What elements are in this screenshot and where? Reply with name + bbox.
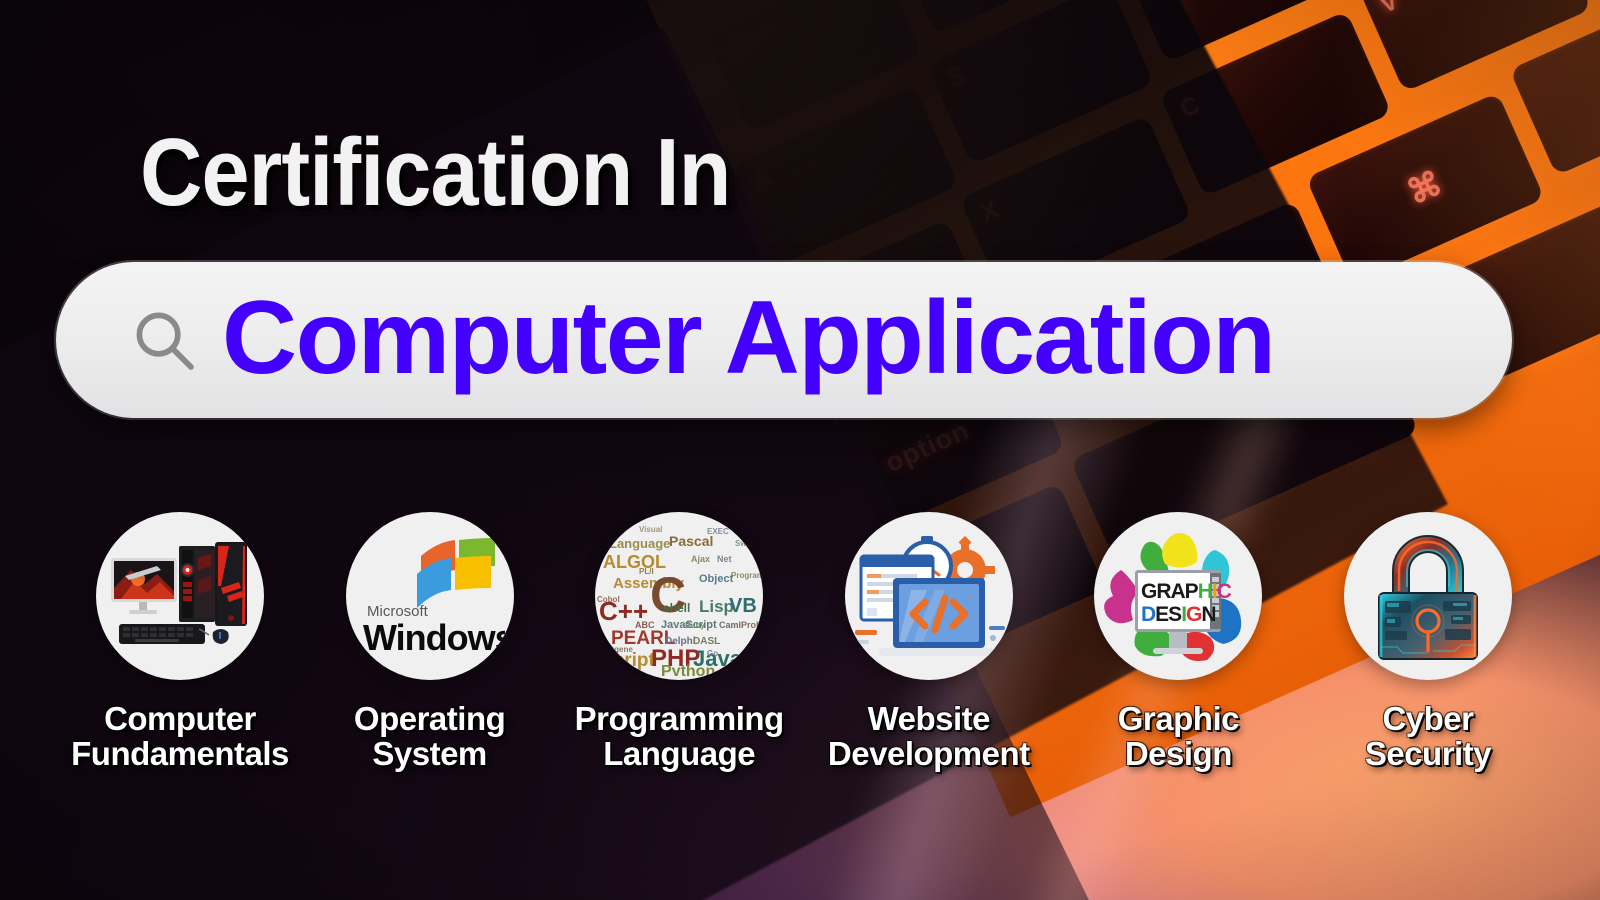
svg-text:Object: Object [699,573,734,585]
topic-cyber-security[interactable]: Cyber Security [1312,512,1544,772]
web-development-icon [845,512,1013,680]
svg-text:Caml: Caml [719,620,741,630]
svg-text:Cobol: Cobol [597,595,620,604]
topic-label: Graphic Design [1118,702,1239,772]
svg-text:shell: shell [663,601,690,615]
microsoft-windows-logo-icon: Microsoft Windows [346,512,514,680]
topic-programming-language[interactable]: Language Pascal ALGOL Assembly C++ C PEA… [563,512,795,772]
svg-text:Visual: Visual [639,525,662,534]
search-icon [128,304,200,376]
svg-text:Prolog: Prolog [741,620,763,630]
code-wordcloud-icon: Language Pascal ALGOL Assembly C++ C PEA… [595,512,763,680]
graphic-design-icon: GRAPHIC DESIGN [1094,512,1262,680]
page-title: Certification In [140,118,730,228]
svg-text:VB: VB [729,595,757,617]
svg-text:Windows: Windows [363,617,505,658]
svg-text:PL/I: PL/I [639,567,654,576]
topic-website-development[interactable]: Website Development [813,512,1045,772]
svg-text:Oxygene: Oxygene [599,645,633,654]
topic-list: Computer Fundamentals Microsoft Windows [64,512,1544,772]
svg-text:Ajax: Ajax [691,554,710,564]
svg-text:Python: Python [661,663,715,676]
svg-text:Net: Net [717,554,732,564]
padlock-security-icon [1344,512,1512,680]
topic-label: Programming Language [575,702,784,772]
svg-text:Ruby: Ruby [685,621,706,630]
topic-operating-system[interactable]: Microsoft Windows Operating System [314,512,546,772]
topic-label: Website Development [828,702,1030,772]
topic-graphic-design[interactable]: GRAPHIC DESIGN Graphic Design [1062,512,1294,772]
svg-text:DESIGN: DESIGN [1141,603,1216,626]
topic-label: Computer Fundamentals [71,702,289,772]
svg-text:Common: Common [601,668,640,676]
topic-computer-fundamentals[interactable]: Computer Fundamentals [64,512,296,772]
search-bar[interactable]: Computer Application [56,262,1512,418]
topic-label: Operating System [354,702,505,772]
desktop-computer-icon [96,512,264,680]
svg-text:Language: Language [609,536,670,551]
svg-text:GRAPHIC: GRAPHIC [1141,580,1232,603]
svg-text:Programming: Programming [731,571,763,580]
svg-text:Swift: Swift [735,539,754,548]
topic-label: Cyber Security [1365,702,1491,772]
search-input[interactable]: Computer Application [222,286,1274,390]
promo-banner: Q W E R T A S D F G Z X C V B option com… [0,0,1600,900]
svg-text:Delphi: Delphi [665,636,696,647]
svg-text:Go: Go [707,649,718,658]
svg-text:ABC: ABC [635,620,655,630]
svg-text:EXEC: EXEC [707,527,729,536]
